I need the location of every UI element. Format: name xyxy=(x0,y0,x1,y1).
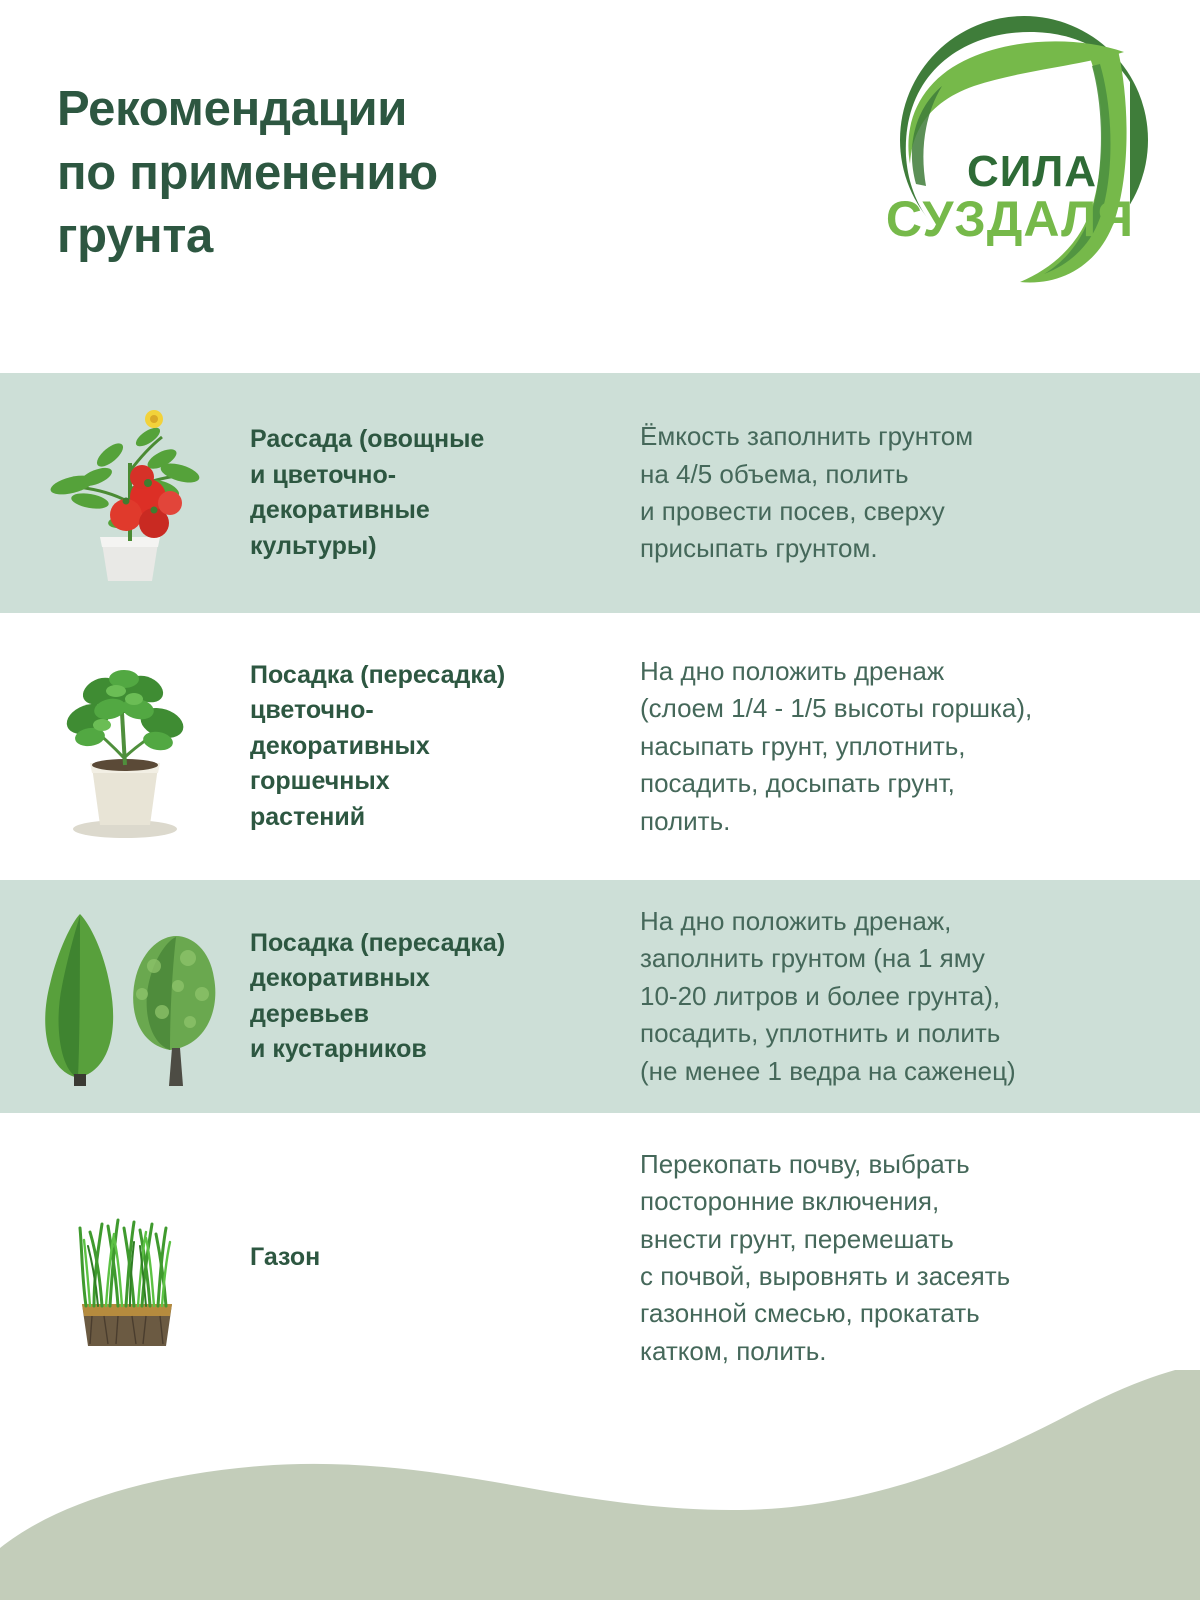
lawn-turf-photo xyxy=(30,1158,220,1358)
infographic-page: Рекомендации по применению грунта СИЛА С… xyxy=(0,0,1200,1600)
wave-shape-icon xyxy=(0,1370,1200,1600)
logo-text-line1: СИЛА xyxy=(967,147,1097,196)
row-label: Газон xyxy=(250,1240,640,1276)
tomato-seedling-photo xyxy=(30,393,220,593)
potted-houseplant-photo xyxy=(30,639,220,854)
footer-wave-decoration xyxy=(0,1370,1200,1600)
recommendation-row: Газон Перекопать почву, выбрать посторон… xyxy=(0,1113,1200,1403)
row-label: Посадка (пересадка) цветочно- декоративн… xyxy=(250,658,640,836)
row-label: Посадка (пересадка) декоративных деревье… xyxy=(250,926,640,1068)
row-description: Ёмкость заполнить грунтом на 4/5 объема,… xyxy=(640,418,1200,568)
logo-text-line2: СУЗДАЛЯ xyxy=(886,191,1134,247)
row-image-cell xyxy=(0,880,250,1113)
trees-and-shrubs-photo xyxy=(20,902,230,1092)
leaf-circle-logo-icon: СИЛА СУЗДАЛЯ xyxy=(862,8,1172,288)
row-description: На дно положить дренаж (слоем 1/4 - 1/5 … xyxy=(640,653,1200,840)
recommendation-row: Посадка (пересадка) цветочно- декоративн… xyxy=(0,613,1200,880)
brand-logo: СИЛА СУЗДАЛЯ xyxy=(862,8,1172,288)
row-description: Перекопать почву, выбрать посторонние вк… xyxy=(640,1146,1200,1371)
recommendation-row: Рассада (овощные и цветочно- декоративны… xyxy=(0,373,1200,613)
row-image-cell xyxy=(0,373,250,613)
row-image-cell xyxy=(0,613,250,880)
recommendation-row: Посадка (пересадка) декоративных деревье… xyxy=(0,880,1200,1113)
row-image-cell xyxy=(0,1113,250,1403)
row-description: На дно положить дренаж, заполнить грунто… xyxy=(640,903,1200,1090)
page-header: Рекомендации по применению грунта СИЛА С… xyxy=(0,0,1200,373)
page-title: Рекомендации по применению грунта xyxy=(57,78,677,269)
row-label: Рассада (овощные и цветочно- декоративны… xyxy=(250,422,640,564)
